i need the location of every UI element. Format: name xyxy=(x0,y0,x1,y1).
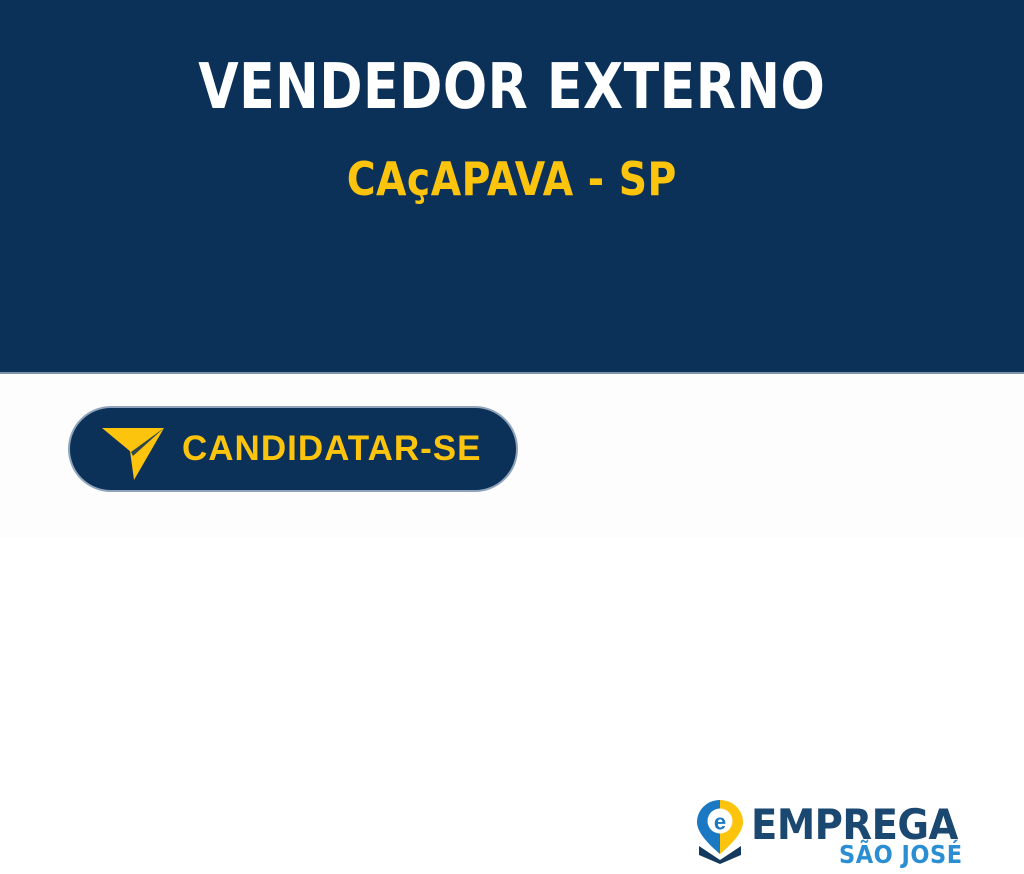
action-bar: CANDIDATAR-SE e EMPREGA SÃO JOSÉ xyxy=(0,376,1024,538)
hero-content: VENDEDOR EXTERNO CAçAPAVA - SP xyxy=(0,0,1024,300)
map-pin-e-icon: e xyxy=(695,798,745,864)
brand-wordmark: EMPREGA SÃO JOSÉ xyxy=(751,798,923,870)
send-paper-plane-icon xyxy=(100,416,166,482)
brand-subtitle: SÃO JOSÉ xyxy=(839,842,963,867)
brand-name: EMPREGA xyxy=(751,804,958,846)
apply-button-label: CANDIDATAR-SE xyxy=(182,429,481,469)
job-posting-card: VENDEDOR EXTERNO CAçAPAVA - SP CANDIDATA… xyxy=(0,0,1024,538)
svg-text:e: e xyxy=(714,810,726,835)
hero-banner: VENDEDOR EXTERNO CAçAPAVA - SP xyxy=(0,0,1024,374)
brand-logo: e EMPREGA SÃO JOSÉ xyxy=(695,798,925,874)
apply-button[interactable]: CANDIDATAR-SE xyxy=(68,406,518,492)
job-location-subtitle: CAçAPAVA - SP xyxy=(347,156,677,202)
page-title: VENDEDOR EXTERNO xyxy=(198,55,825,118)
